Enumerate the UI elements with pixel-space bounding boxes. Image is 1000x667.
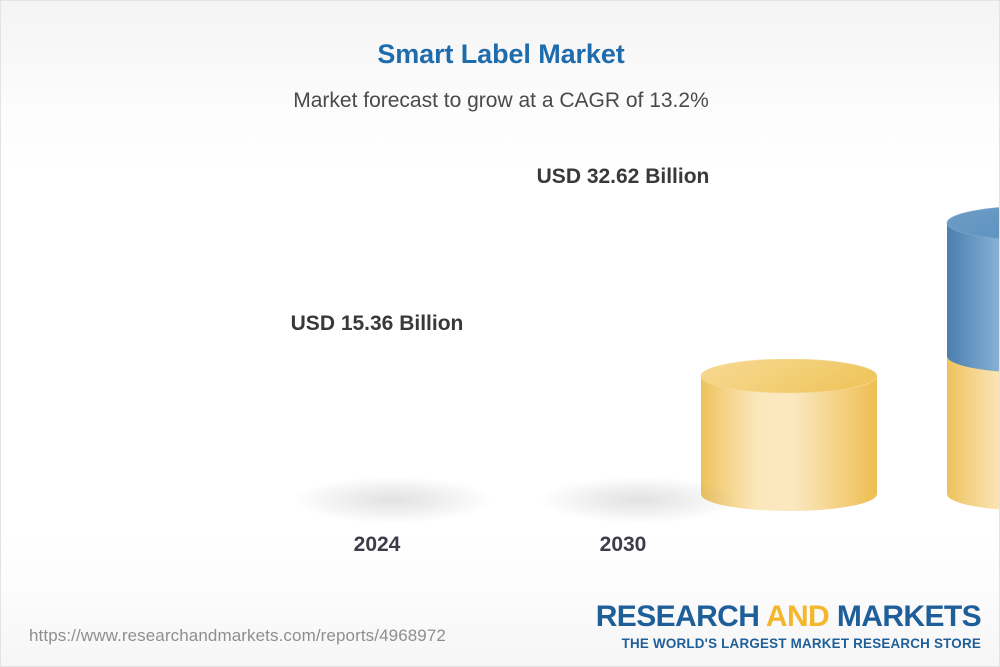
value-label-2024: USD 15.36 Billion (239, 312, 515, 336)
value-label-2030: USD 32.62 Billion (485, 165, 761, 189)
chart-canvas: Smart Label Market Market forecast to gr… (0, 0, 1000, 667)
brand-logo: RESEARCH AND MARKETS THE WORLD'S LARGEST… (596, 602, 981, 650)
brand-name-and: AND (766, 600, 829, 633)
source-url[interactable]: https://www.researchandmarkets.com/repor… (29, 626, 446, 646)
brand-name: RESEARCH AND MARKETS (596, 602, 981, 632)
brand-tagline: THE WORLD'S LARGEST MARKET RESEARCH STOR… (596, 637, 981, 650)
cylinder-2030 (535, 206, 1000, 511)
category-label-2024: 2024 (239, 533, 515, 557)
category-label-2030: 2030 (485, 533, 761, 557)
plot-area: USD 15.36 Billion 2024 (1, 1, 1000, 667)
brand-name-markets: MARKETS (829, 600, 981, 633)
brand-name-research: RESEARCH (596, 600, 766, 633)
